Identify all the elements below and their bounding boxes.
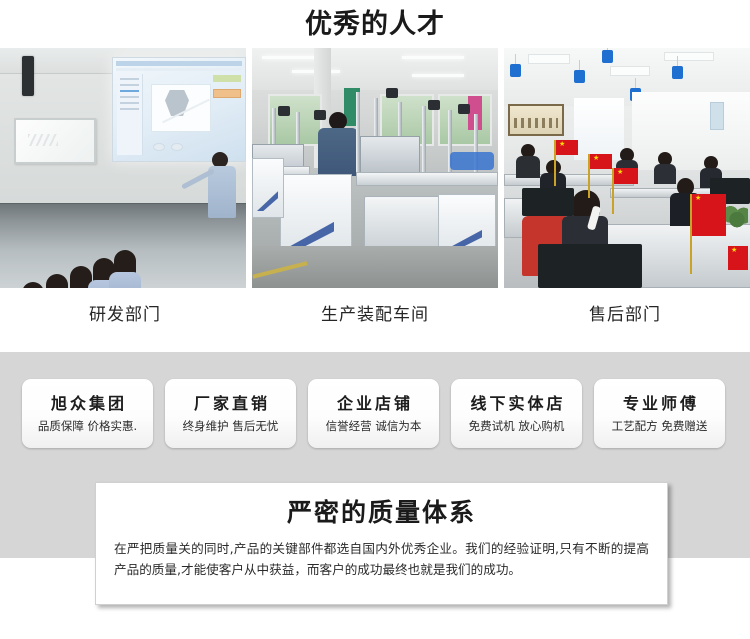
badge-subtitle: 免费试机 放心购机 (469, 416, 565, 436)
badge-title: 旭众集团 (48, 392, 127, 416)
attendees-group (0, 178, 160, 288)
screen-green-banner (213, 75, 241, 82)
photo-aftersales-office (504, 48, 750, 288)
ceiling-panel (610, 66, 650, 76)
badge-subtitle: 工艺配方 免费赠送 (612, 416, 708, 436)
sidebar-line (120, 84, 139, 86)
badge-title: 线下实体店 (467, 392, 565, 416)
screen-dot (171, 143, 183, 151)
workshop-window (438, 94, 492, 146)
ceiling-light (412, 74, 464, 77)
china-flag-icon (728, 246, 748, 270)
screen-dot (153, 143, 165, 151)
control-cabinet (280, 174, 352, 256)
china-flag-icon (590, 154, 612, 169)
photo-production-workshop (252, 48, 498, 288)
workshop-worker (318, 112, 358, 174)
china-flag-icon (692, 194, 726, 236)
ceiling-panel (664, 52, 714, 61)
photo-rd-department (0, 48, 246, 288)
sidebar-line (120, 96, 139, 98)
office-plant (726, 204, 748, 230)
sidebar-line (120, 108, 139, 110)
photo-gallery (0, 48, 750, 288)
badge-title: 企业店铺 (334, 392, 413, 416)
speaker-icon (22, 56, 34, 96)
motor-unit (314, 110, 326, 120)
quality-system-panel: 严密的质量体系 在严把质量关的同时,产品的关键部件都选自国内外优秀企业。我们的经… (95, 482, 668, 605)
workshop-window (268, 94, 322, 146)
badge-subtitle: 品质保障 价格实惠. (38, 416, 137, 436)
projection-screen (112, 57, 246, 162)
attendee-head (46, 274, 68, 288)
machine-rod (422, 106, 426, 180)
wall-painting (508, 104, 564, 136)
caption-production-workshop: 生产装配车间 (250, 295, 500, 345)
badge-subtitle: 终身维护 售后无忧 (183, 416, 279, 436)
motor-unit (458, 104, 470, 114)
ceiling-light (402, 56, 464, 59)
badge-title: 厂家直销 (191, 392, 270, 416)
page-title: 优秀的人才 (0, 4, 750, 46)
sidebar-line (120, 102, 139, 104)
photo-captions: 研发部门 生产装配车间 售后部门 (0, 295, 750, 345)
china-flag-icon (614, 168, 638, 184)
ceiling-panel (528, 54, 570, 64)
motor-unit (428, 100, 440, 110)
workshop-roof (252, 48, 498, 90)
badge-subtitle: 信誉经营 诚信为本 (326, 416, 422, 436)
motor-unit (386, 88, 398, 98)
badge-title: 专业师傅 (620, 392, 699, 416)
caption-rd-department: 研发部门 (0, 295, 250, 345)
attendee-body (109, 272, 141, 288)
quality-body-text: 在严把质量关的同时,产品的关键部件都选自国内外优秀企业。我们的经验证明,只有不断… (114, 538, 649, 580)
promo-page: 优秀的人才 (0, 0, 750, 639)
badge-professional-master: 专业师傅 工艺配方 免费赠送 (594, 379, 725, 448)
china-flag-icon (556, 140, 578, 155)
screen-menubar (116, 68, 242, 71)
assembly-bench (356, 172, 498, 186)
ceiling-light (262, 56, 320, 59)
computer-monitor (522, 188, 574, 216)
hanging-sign-icon (510, 64, 521, 77)
office-wall (632, 92, 750, 170)
wall-poster (710, 102, 724, 130)
screen-sidebar (117, 74, 143, 155)
screen-orange-button (213, 89, 241, 98)
badge-factory-direct: 厂家直销 终身维护 售后无忧 (165, 379, 296, 448)
worker-body (318, 128, 358, 176)
quality-title: 严密的质量体系 (96, 496, 667, 530)
feature-badges: 旭众集团 品质保障 价格实惠. 厂家直销 终身维护 售后无忧 企业店铺 信誉经营… (22, 379, 730, 449)
motor-unit (278, 106, 290, 116)
sidebar-line-selected (120, 90, 139, 92)
badge-group: 旭众集团 品质保障 价格实惠. (22, 379, 153, 448)
hanging-sign-icon (672, 66, 683, 79)
sidebar-line (120, 78, 139, 80)
whiteboard (14, 118, 96, 164)
badge-offline-store: 线下实体店 免费试机 放心购机 (451, 379, 582, 448)
computer-monitor (538, 244, 642, 288)
hanging-sign-icon (574, 70, 585, 83)
attendee-head (22, 282, 44, 288)
presenter-person (208, 152, 236, 230)
screen-titlebar (116, 61, 242, 66)
badge-enterprise-store: 企业店铺 信誉经营 诚信为本 (308, 379, 439, 448)
office-worker (516, 144, 540, 178)
control-cabinet (252, 158, 284, 218)
hanging-sign-icon (602, 50, 613, 63)
blue-bin (450, 152, 494, 170)
caption-aftersales-department: 售后部门 (500, 295, 750, 345)
worker-body (516, 156, 540, 178)
